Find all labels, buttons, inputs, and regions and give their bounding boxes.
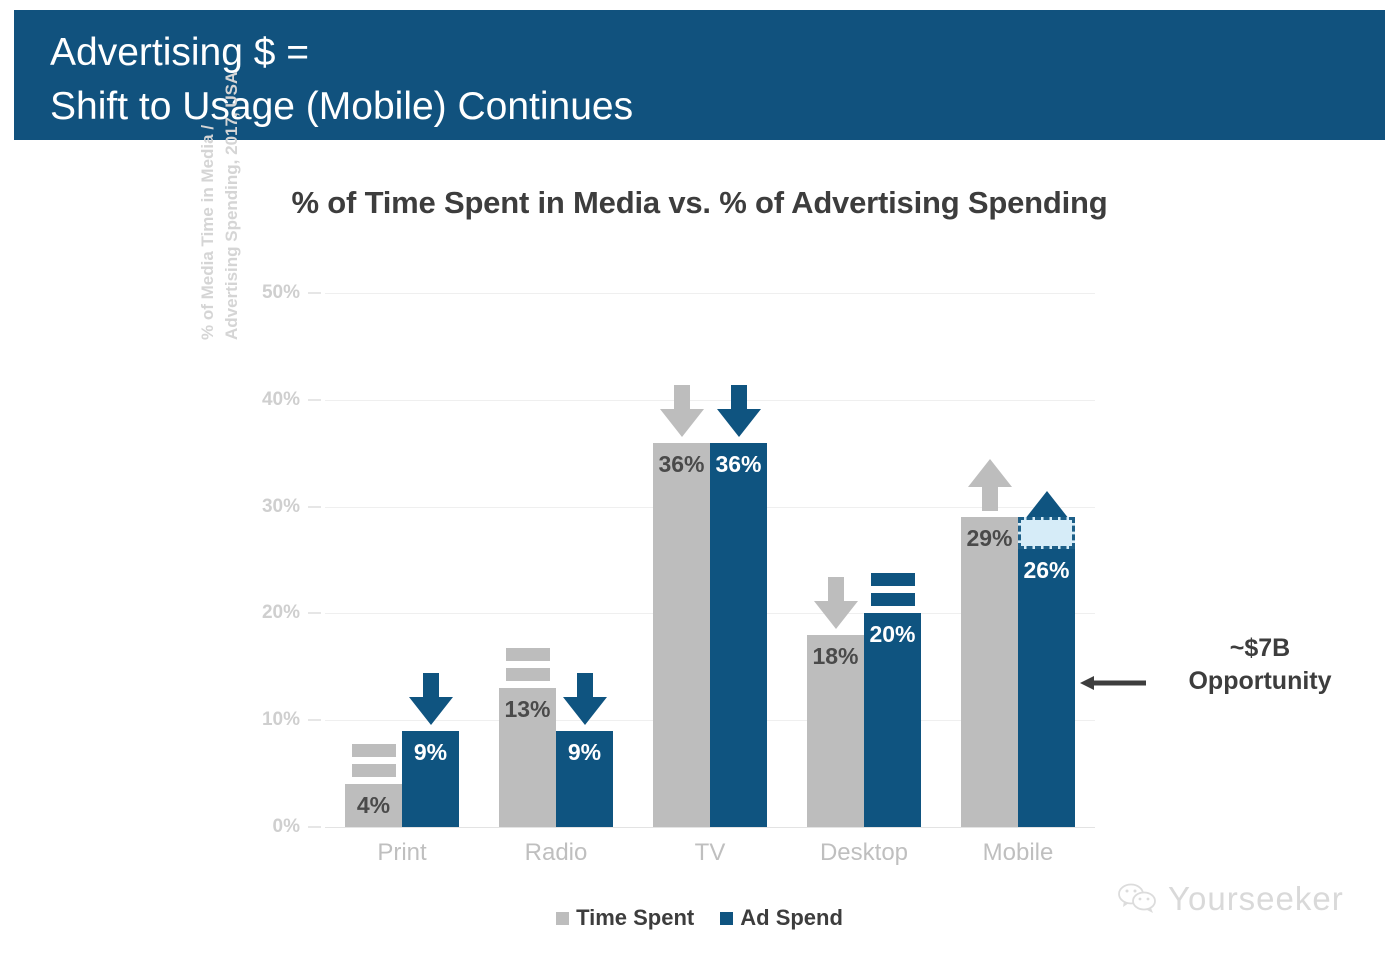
opportunity-box (1018, 517, 1075, 549)
arrow-down-icon (409, 673, 453, 725)
gridline (325, 400, 1095, 401)
bar-value-label: 29% (956, 525, 1023, 552)
equals-icon (352, 744, 396, 778)
bar-tv-time-spent[interactable] (653, 443, 710, 827)
bar-value-label: 26% (1013, 557, 1080, 584)
plot-area: 0%10%20%30%40%50%4%9%Print13%9%Radio36%3… (325, 293, 1095, 827)
legend-label: Ad Spend (740, 905, 843, 931)
legend-swatch-icon (556, 912, 569, 925)
annotation-line-1: ~$7B (1140, 632, 1380, 665)
y-tick-label: 30% (238, 496, 300, 518)
legend-label: Time Spent (576, 905, 694, 931)
annotation-line-2: Opportunity (1140, 665, 1380, 698)
bar-value-label: 20% (859, 621, 926, 648)
y-tick-label: 10% (238, 709, 300, 731)
y-tick-label: 0% (238, 816, 300, 838)
gridline (325, 827, 1095, 828)
equals-icon (506, 648, 550, 682)
arrow-down-icon (814, 577, 858, 629)
arrow-down-icon (563, 673, 607, 725)
bar-mobile-time-spent[interactable] (961, 517, 1018, 827)
gridline (325, 293, 1095, 294)
bar-value-label: 13% (494, 696, 561, 723)
equals-icon (871, 573, 915, 607)
y-tick-label: 40% (238, 389, 300, 411)
legend-item-ad-spend[interactable]: Ad Spend (720, 905, 843, 931)
bar-value-label: 9% (551, 739, 618, 766)
y-axis-label: % of Media Time in Media / Advertising S… (196, 40, 244, 340)
x-axis-label-desktop: Desktop (787, 839, 941, 867)
bar-value-label: 36% (705, 451, 772, 478)
x-axis-label-radio: Radio (479, 839, 633, 867)
legend-item-time-spent[interactable]: Time Spent (556, 905, 694, 931)
watermark-text: Yourseeker (1168, 880, 1344, 918)
x-axis-label-print: Print (325, 839, 479, 867)
x-axis-label-mobile: Mobile (941, 839, 1095, 867)
bar-tv-ad-spend[interactable] (710, 443, 767, 827)
y-tick-mark (308, 612, 321, 614)
watermark: Yourseeker (1118, 880, 1344, 918)
y-tick-mark (308, 826, 321, 828)
bar-value-label: 4% (340, 792, 407, 819)
opportunity-annotation: ~$7B Opportunity (1140, 632, 1380, 698)
bar-value-label: 9% (397, 739, 464, 766)
arrow-left-icon (1080, 676, 1146, 690)
wechat-icon (1118, 882, 1158, 916)
arrow-up-icon (968, 459, 1012, 511)
bar-mobile-ad-spend[interactable] (1018, 549, 1075, 827)
x-axis-label-tv: TV (633, 839, 787, 867)
y-tick-mark (308, 719, 321, 721)
y-tick-mark (308, 292, 321, 294)
arrow-down-icon (717, 385, 761, 437)
y-tick-label: 50% (238, 282, 300, 304)
arrow-down-icon (660, 385, 704, 437)
y-tick-label: 20% (238, 602, 300, 624)
chart-container: % of Time Spent in Media vs. % of Advert… (0, 140, 1399, 960)
legend-swatch-icon (720, 912, 733, 925)
y-tick-mark (308, 506, 321, 508)
page-title: Advertising $ = Shift to Usage (Mobile) … (50, 26, 633, 134)
y-tick-mark (308, 399, 321, 401)
